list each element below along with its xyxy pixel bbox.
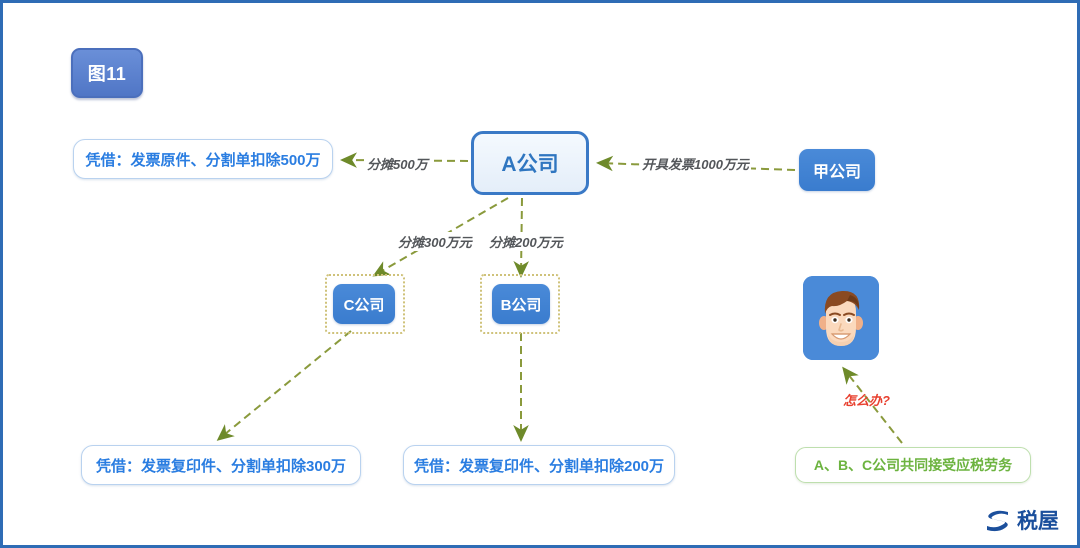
figure-badge: 图11: [71, 48, 143, 98]
watermark: 税屋: [984, 505, 1059, 535]
person-avatar: [803, 276, 879, 360]
diagram-canvas: 图11 凭借：发票原件、分割单扣除500万 凭借：发票复印件、分割单扣除300万…: [0, 0, 1080, 548]
edge-label-allocate-500: 分摊500万: [365, 154, 430, 173]
edge-c-to-voucher300: [219, 331, 351, 439]
node-c-company: C公司: [333, 284, 395, 324]
node-a-company: A公司: [471, 131, 589, 195]
question-annotation: 怎么办?: [843, 390, 890, 409]
avatar-face-icon: [803, 276, 879, 360]
edge-label-allocate-300: 分摊300万元: [396, 232, 474, 251]
watermark-text: 税屋: [1017, 505, 1059, 535]
edge-label-allocate-200: 分摊200万元: [487, 232, 565, 251]
green-note-box: A、B、C公司共同接受应税劳务: [795, 447, 1031, 483]
edge-label-invoice-1000: 开具发票1000万元: [640, 154, 751, 173]
voucher-box-500: 凭借：发票原件、分割单扣除500万: [73, 139, 333, 179]
voucher-box-200: 凭借：发票复印件、分割单扣除200万: [403, 445, 675, 485]
node-jia-company: 甲公司: [799, 149, 875, 191]
node-b-company: B公司: [492, 284, 550, 324]
voucher-box-300: 凭借：发票复印件、分割单扣除300万: [81, 445, 361, 485]
watermark-s-icon: [984, 507, 1012, 533]
